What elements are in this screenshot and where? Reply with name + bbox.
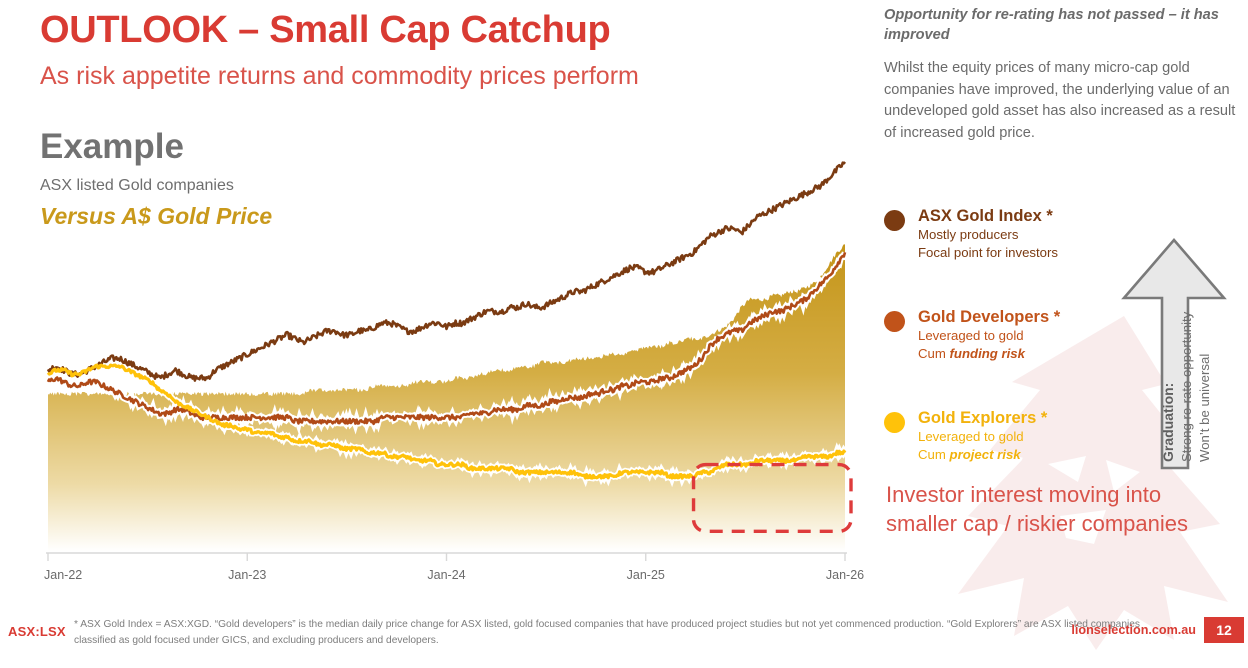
- arrow-shape: [1118, 236, 1238, 470]
- legend-label: Gold Explorers *: [918, 409, 1047, 428]
- page-subtitle: As risk appetite returns and commodity p…: [40, 62, 639, 91]
- gold-companies-chart: Jan-22Jan-23Jan-24Jan-25Jan-26: [0, 150, 880, 590]
- legend-detail-2: Focal point for investors: [918, 244, 1058, 261]
- legend-dot-icon: [884, 210, 905, 231]
- x-axis-ticks: Jan-22Jan-23Jan-24Jan-25Jan-26: [44, 553, 864, 582]
- page-title: OUTLOOK – Small Cap Catchup: [40, 9, 610, 52]
- x-tick-label: Jan-23: [228, 568, 266, 582]
- legend-detail-1: Leveraged to gold: [918, 327, 1060, 344]
- x-tick-label: Jan-22: [44, 568, 82, 582]
- legend-item-asx-gold-index[interactable]: ASX Gold Index * Mostly producers Focal …: [884, 207, 1058, 261]
- legend-detail-1: Leveraged to gold: [918, 428, 1047, 445]
- legend-detail-2: Cum project risk: [918, 446, 1047, 463]
- legend-dot-icon: [884, 311, 905, 332]
- legend-item-gold-explorers[interactable]: Gold Explorers * Leveraged to gold Cum p…: [884, 409, 1047, 463]
- legend-item-gold-developers[interactable]: Gold Developers * Leveraged to gold Cum …: [884, 308, 1060, 362]
- slide-canvas: OUTLOOK – Small Cap Catchup As risk appe…: [0, 0, 1248, 668]
- arrow-label-opportunity: Strong re-rate opportunity: [1179, 312, 1194, 462]
- asx-ticker: ASX:LSX: [8, 624, 66, 639]
- legend-detail-1: Mostly producers: [918, 226, 1058, 243]
- investor-callout: Investor interest moving into smaller ca…: [886, 480, 1226, 539]
- graduation-arrow: Graduation: Strong re-rate opportunity W…: [1118, 236, 1238, 470]
- page-number-badge: 12: [1204, 617, 1244, 643]
- legend-detail-2: Cum funding risk: [918, 345, 1060, 362]
- arrow-label-universal: Won’t be universal: [1197, 354, 1212, 462]
- chart-container: Jan-22Jan-23Jan-24Jan-25Jan-26: [0, 150, 880, 590]
- x-tick-label: Jan-24: [427, 568, 465, 582]
- legend-dot-icon: [884, 412, 905, 433]
- legend-label: ASX Gold Index *: [918, 207, 1058, 226]
- footnote-text: * ASX Gold Index = ASX:XGD. “Gold develo…: [74, 617, 1150, 648]
- arrow-label-graduation: Graduation:: [1160, 383, 1176, 462]
- right-panel-heading: Opportunity for re-rating has not passed…: [884, 6, 1232, 45]
- right-panel-body: Whilst the equity prices of many micro-c…: [884, 58, 1236, 145]
- x-tick-label: Jan-26: [826, 568, 864, 582]
- x-tick-label: Jan-25: [627, 568, 665, 582]
- website-link[interactable]: lionselection.com.au: [1071, 623, 1196, 637]
- legend-label: Gold Developers *: [918, 308, 1060, 327]
